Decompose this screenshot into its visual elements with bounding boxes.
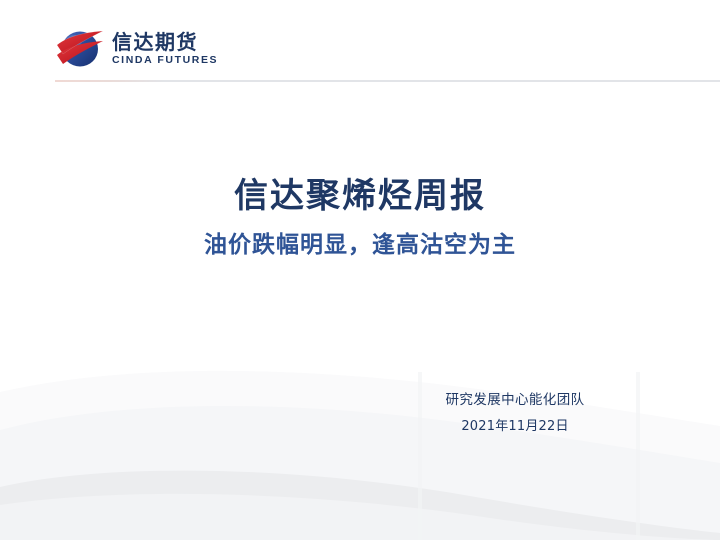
- byline-team-name: 研究发展中心能化团队: [380, 390, 650, 410]
- slide-header: 信达期货 CINDA FUTURES: [0, 0, 720, 90]
- wave-shape-3: [0, 471, 720, 540]
- brand-name-cn: 信达期货: [112, 32, 218, 53]
- header-divider-rule: [55, 80, 720, 82]
- wave-shape-4: [0, 494, 720, 540]
- company-logo: 信达期货 CINDA FUTURES: [55, 28, 218, 70]
- page-subtitle: 油价跌幅明显，逢高沽空为主: [0, 230, 720, 260]
- byline-block: 研究发展中心能化团队 2021年11月22日: [380, 390, 650, 436]
- title-slide: 信达期货 CINDA FUTURES 信达聚烯烃周报 油价跌幅明显，逢高沽空为主…: [0, 0, 720, 540]
- cinda-futures-logo-mark-icon: [55, 28, 105, 70]
- page-title: 信达聚烯烃周报: [0, 176, 720, 216]
- brand-name-en: CINDA FUTURES: [112, 54, 218, 67]
- byline-date: 2021年11月22日: [380, 417, 650, 436]
- title-block: 信达聚烯烃周报 油价跌幅明显，逢高沽空为主: [0, 176, 720, 260]
- logo-wordmark: 信达期货 CINDA FUTURES: [112, 31, 218, 67]
